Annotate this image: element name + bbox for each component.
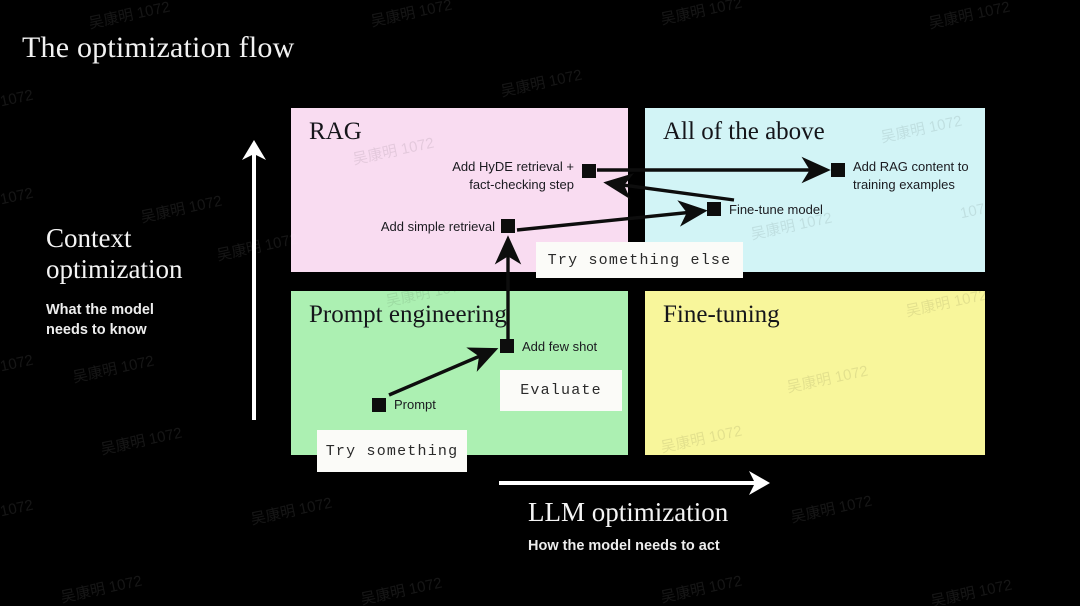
callout-evaluate[interactable]: Evaluate (500, 370, 622, 411)
node-label-prompt: Prompt (394, 396, 436, 414)
y-axis-subtitle: What the model needs to know (46, 300, 246, 340)
watermark: 吴康明 1072 (499, 64, 584, 102)
watermark: 吴康明 1072 (929, 574, 1014, 606)
watermark: 1072 (0, 352, 35, 376)
callout-evaluate-text: Evaluate (520, 382, 602, 399)
node-label-add-rag-content: Add RAG content to training examples (853, 158, 969, 194)
callout-try-something-else-text: Try something else (548, 252, 732, 269)
node-label-add-hyde-retrieval-line2: fact-checking step (400, 176, 574, 194)
watermark: 吴康明 1072 (369, 0, 454, 31)
node-label-add-simple-retrieval: Add simple retrieval (362, 218, 495, 236)
watermark: 1072 (0, 185, 35, 209)
node-label-fine-tune-model: Fine-tune model (729, 201, 823, 219)
node-marker-prompt[interactable] (372, 398, 386, 412)
y-axis-title: Context optimization (46, 223, 246, 285)
page-title: The optimization flow (22, 30, 294, 66)
watermark: 1072 (0, 87, 35, 111)
arrow-right-icon (497, 470, 772, 496)
node-marker-fine-tune-model[interactable] (707, 202, 721, 216)
y-axis-title-line2: optimization (46, 254, 246, 285)
watermark: 吴康明 1072 (87, 0, 172, 33)
watermark: 吴康明 1072 (59, 570, 144, 606)
node-marker-add-rag-content[interactable] (831, 163, 845, 177)
x-axis-title: LLM optimization (528, 497, 928, 528)
y-axis-label-group: Context optimization What the model need… (46, 223, 246, 340)
watermark: 吴康明 1072 (71, 350, 156, 388)
watermark: 吴康明 1072 (359, 572, 444, 606)
node-marker-add-hyde-retrieval[interactable] (582, 164, 596, 178)
quadrant-label-fine-tuning: Fine-tuning (663, 300, 780, 330)
node-label-add-hyde-retrieval: Add HyDE retrieval + fact-checking step (400, 158, 574, 194)
watermark: 吴康明 1072 (139, 190, 224, 228)
watermark: 吴康明 1072 (99, 422, 184, 460)
y-axis-title-line1: Context (46, 223, 246, 254)
x-axis-label-group: LLM optimization How the model needs to … (528, 497, 928, 556)
y-axis-subtitle-line2: needs to know (46, 320, 246, 340)
node-label-add-few-shot: Add few shot (522, 338, 597, 356)
watermark: 吴康明 1072 (249, 492, 334, 530)
node-label-add-rag-content-line2: training examples (853, 176, 969, 194)
watermark: 吴康明 1072 (659, 570, 744, 606)
node-marker-add-few-shot[interactable] (500, 339, 514, 353)
callout-try-something-text: Try something (326, 443, 459, 460)
watermark: 1072 (0, 497, 35, 521)
quadrant-label-prompt-engineering: Prompt engineering (309, 300, 507, 330)
node-label-add-hyde-retrieval-line1: Add HyDE retrieval + (400, 158, 574, 176)
slide-canvas: The optimization flow Context optimizati… (0, 0, 1080, 606)
quadrant-fine-tuning[interactable]: Fine-tuning (645, 291, 985, 455)
callout-try-something[interactable]: Try something (317, 430, 467, 472)
quadrant-label-all-of-the-above: All of the above (663, 117, 825, 147)
node-marker-add-simple-retrieval[interactable] (501, 219, 515, 233)
watermark: 吴康明 1072 (659, 0, 744, 29)
quadrant-label-rag: RAG (309, 117, 362, 147)
node-label-add-rag-content-line1: Add RAG content to (853, 158, 969, 176)
y-axis-subtitle-line1: What the model (46, 300, 246, 320)
watermark: 吴康明 1072 (927, 0, 1012, 33)
x-axis-subtitle: How the model needs to act (528, 537, 928, 556)
callout-try-something-else[interactable]: Try something else (536, 242, 743, 278)
